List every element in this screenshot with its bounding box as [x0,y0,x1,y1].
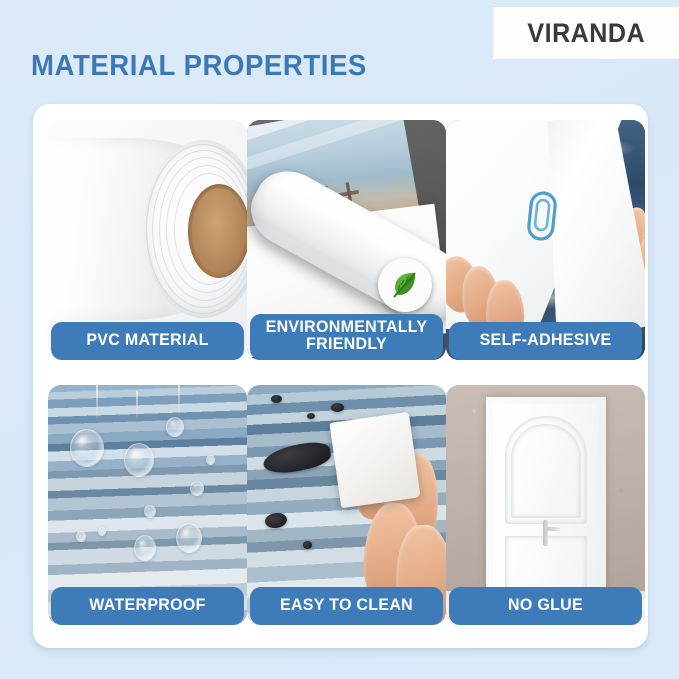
page-title: MATERIAL PROPERTIES [31,50,367,83]
feature-card-no-glue[interactable]: NO GLUE [446,385,645,625]
door-handle [543,520,548,546]
brand-logo-box: VIRANDA [493,7,679,59]
feature-label: WATERPROOF [51,587,244,625]
feature-label: PVC MATERIAL [51,322,244,360]
roll-cardboard-core [188,184,247,278]
feature-card-environmentally-friendly[interactable]: ENVIRONMENTALLY FRIENDLY [247,120,446,360]
feature-card-waterproof[interactable]: WATERPROOF [48,385,247,625]
feature-card-pvc-material[interactable]: PVC MATERIAL [48,120,247,360]
paperclip-icon [521,186,563,245]
leaf-icon [388,268,422,302]
feature-label: ENVIRONMENTALLY FRIENDLY [250,314,443,360]
feature-grid: PVC MATERIAL EN [48,120,643,630]
cleaning-cloth [329,412,420,508]
brand-name: VIRANDA [527,18,645,49]
paperclip-badge [521,186,563,245]
feature-label: SELF-ADHESIVE [449,322,642,360]
door [493,404,599,595]
feature-card-self-adhesive[interactable]: SELF-ADHESIVE [446,120,645,360]
feature-card-easy-to-clean[interactable]: EASY TO CLEAN [247,385,446,625]
feature-label: EASY TO CLEAN [250,587,443,625]
eco-badge [378,258,432,312]
feature-label: NO GLUE [449,587,642,625]
